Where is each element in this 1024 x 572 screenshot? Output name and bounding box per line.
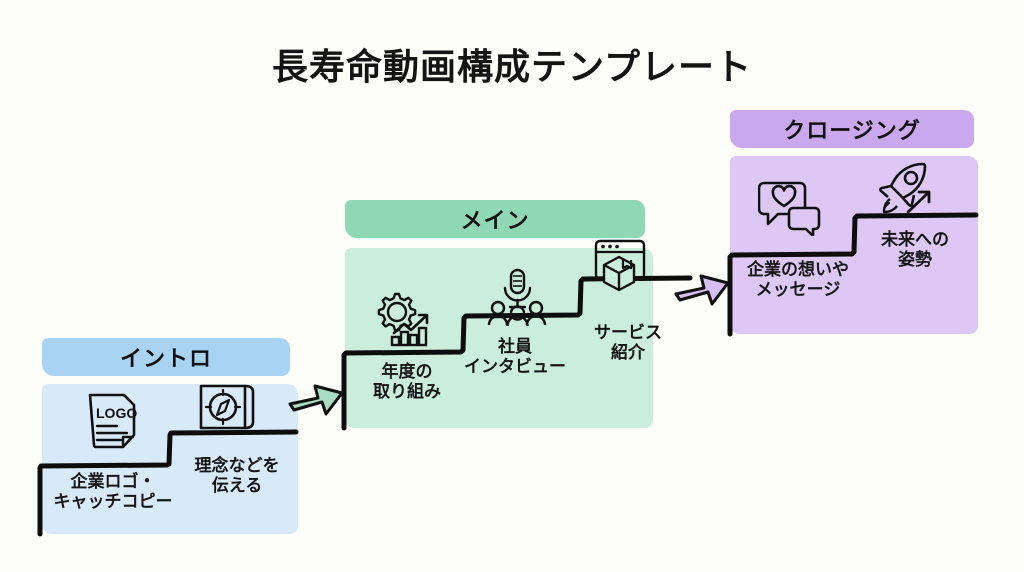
section-main-header: メイン: [345, 200, 645, 238]
step-label-main-3: サービス 紹介: [578, 323, 678, 363]
section-closing-header-label: クロージング: [783, 113, 921, 145]
step-label-closing-2: 未来への 姿勢: [860, 230, 970, 270]
step-label-intro-1: 企業ロゴ・ キャッチコピー: [38, 472, 188, 512]
svg-text:LOGO: LOGO: [96, 405, 137, 421]
page-title: 長寿命動画構成テンプレート: [0, 38, 1024, 90]
compass-scroll-icon: [196, 378, 260, 438]
step-label-main-1: 年度の 取り組み: [352, 362, 462, 402]
heart-speech-bubble-icon: [758, 178, 822, 236]
browser-package-icon: [592, 238, 650, 294]
microphone-people-icon: [487, 268, 547, 326]
rocket-icon: [876, 160, 938, 222]
logo-document-icon: LOGO: [84, 390, 140, 454]
step-label-closing-1: 企業の想いや メッセージ: [734, 260, 862, 300]
step-label-intro-2: 理念などを 伝える: [175, 456, 299, 496]
section-closing-header: クロージング: [730, 110, 974, 148]
connector-main-to-closing: [672, 258, 738, 315]
infographic-canvas: 長寿命動画構成テンプレート イントロ LOGO: [0, 0, 1024, 572]
section-intro-header: イントロ: [42, 338, 290, 376]
gear-chart-icon: [374, 288, 436, 350]
step-label-main-2: 社員 インタビュー: [452, 337, 578, 377]
section-main-header-label: メイン: [460, 203, 529, 235]
section-intro-header-label: イントロ: [120, 341, 212, 373]
connector-intro-to-main: [286, 368, 352, 425]
